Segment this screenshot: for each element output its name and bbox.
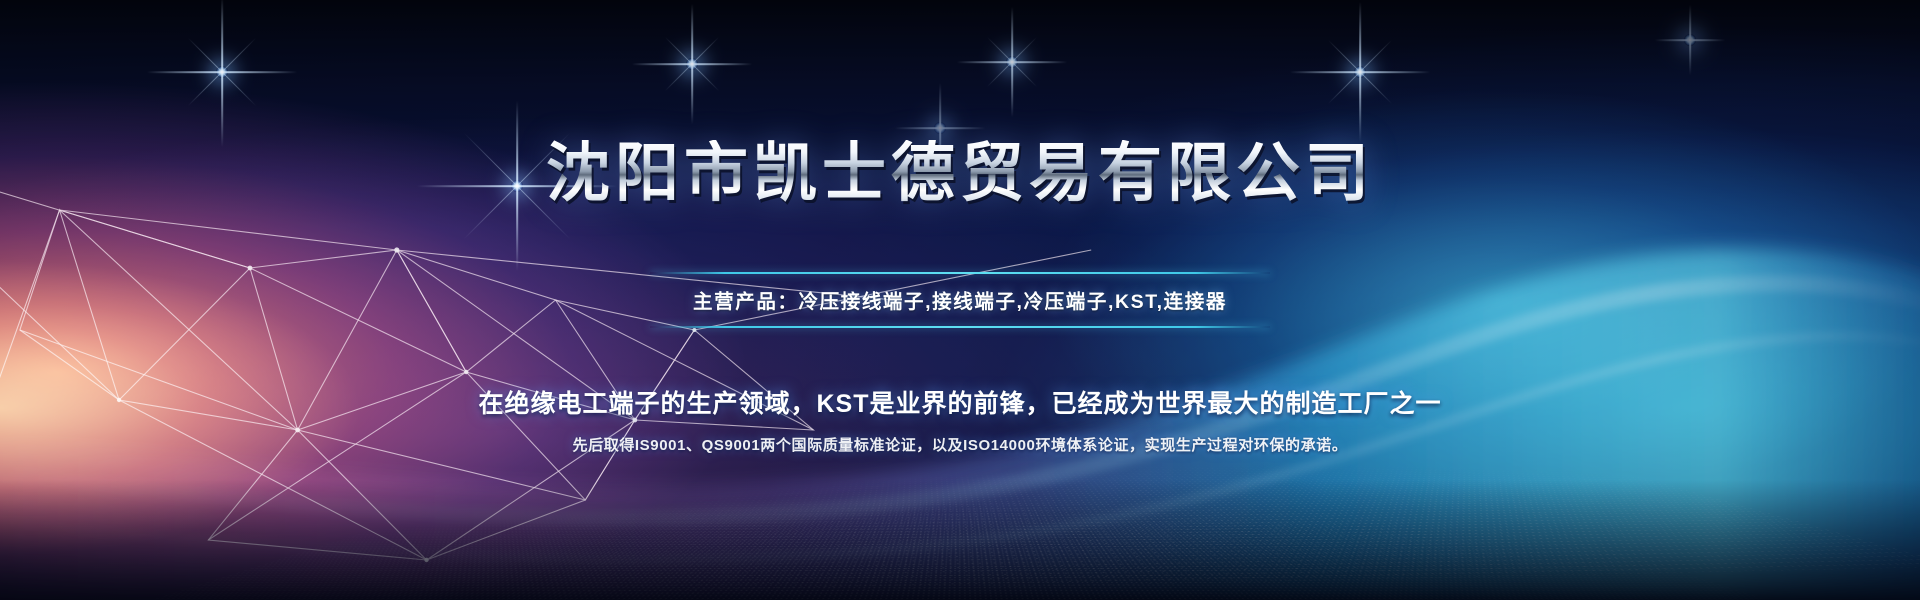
bottom-fade-overlay xyxy=(0,480,1920,600)
certification-subline: 先后取得IS9001、QS9001两个国际质量标准论证，以及ISO14000环境… xyxy=(573,434,1348,455)
main-products-line: 主营产品：冷压接线端子,接线端子,冷压端子,KST,连接器 xyxy=(693,274,1227,314)
divider-line-bottom xyxy=(650,326,1270,328)
company-tagline: 在绝缘电工端子的生产领域，KST是业界的前锋，已经成为世界最大的制造工厂之一 xyxy=(478,384,1441,420)
hero-banner: 沈阳市凯士德贸易有限公司 主营产品：冷压接线端子,接线端子,冷压端子,KST,连… xyxy=(0,0,1920,600)
company-title: 沈阳市凯士德贸易有限公司 xyxy=(546,140,1374,207)
